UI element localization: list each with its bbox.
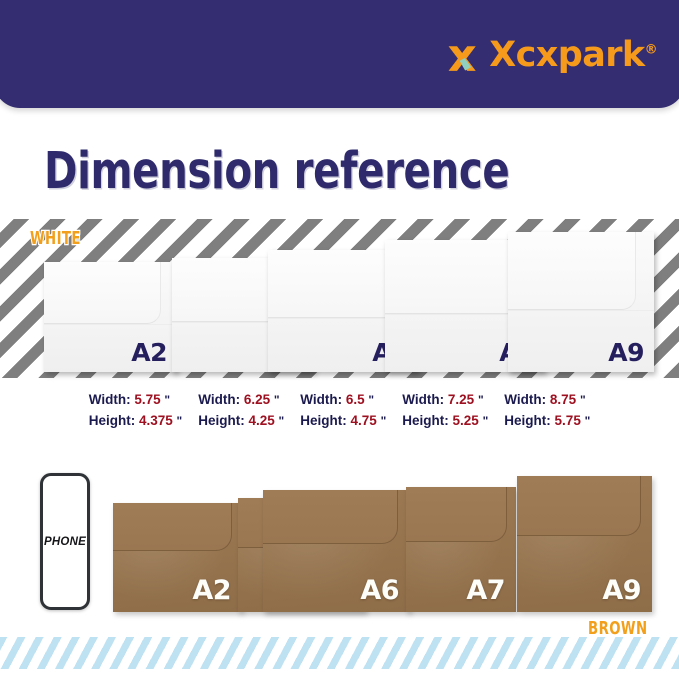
envelope-flap (385, 240, 526, 314)
envelope-size-label: A2 (192, 575, 231, 606)
envelope-size-label: A9 (608, 338, 644, 367)
envelope-brown-a6: A6 (263, 490, 410, 612)
dimension-width: Width: 8.75 " (504, 390, 590, 411)
phone-label: PHONE (44, 536, 86, 548)
envelope-seam (44, 324, 177, 325)
width-unit: " (580, 393, 586, 407)
page-title: Dimension reference (44, 142, 509, 201)
envelope-seam (508, 310, 654, 311)
width-value: 6.25 (244, 392, 270, 407)
envelope-size-label: A2 (131, 338, 167, 367)
width-value: 6.5 (346, 392, 365, 407)
dimension-width: Width: 6.25 " (198, 390, 284, 411)
dimension-height: Height: 5.25 " (402, 411, 488, 432)
dimension-width: Width: 7.25 " (402, 390, 488, 411)
envelope-white-a9: A9 (508, 232, 654, 372)
envelope-flap (113, 503, 232, 551)
width-value: 5.75 (134, 392, 160, 407)
height-label: Height: (504, 413, 551, 428)
width-label: Width: (300, 392, 342, 407)
registered-trademark-icon: ® (645, 42, 657, 57)
phone-reference: PHONE (40, 473, 90, 610)
envelope-size-label: A7 (466, 575, 505, 606)
dimension-column-a6: Width: 6.5 " Height: 4.75 " (300, 390, 386, 432)
brand-name: Xcxpark® (489, 38, 657, 73)
height-unit: " (483, 414, 489, 428)
dimension-height: Height: 4.25 " (198, 411, 284, 432)
height-label: Height: (198, 413, 245, 428)
height-value: 4.375 (139, 413, 173, 428)
width-value: 8.75 (550, 392, 576, 407)
dimension-height: Height: 4.75 " (300, 411, 386, 432)
envelope-flap (263, 490, 398, 544)
width-unit: " (164, 393, 170, 407)
height-unit: " (177, 414, 183, 428)
envelope-brown-a9: A9 (517, 476, 652, 612)
envelope-flap (44, 262, 161, 324)
envelope-flap (268, 250, 400, 318)
height-unit: " (585, 414, 591, 428)
envelope-white-a2: A2 (44, 262, 177, 372)
dimensions-row: Width: 5.75 " Height: 4.375 " Width: 6.2… (0, 390, 679, 432)
dimension-width: Width: 6.5 " (300, 390, 386, 411)
envelope-brown-a2: A2 (113, 503, 242, 612)
header-banner: Xcxpark® (0, 0, 679, 108)
height-unit: " (279, 414, 285, 428)
width-label: Width: (198, 392, 240, 407)
envelope-flap (406, 487, 507, 542)
brand-name-text: Xcxpark (489, 35, 644, 75)
footer-stripe-decoration (0, 637, 679, 669)
width-unit: " (368, 393, 374, 407)
envelope-flap (508, 232, 636, 310)
width-label: Width: (402, 392, 444, 407)
height-value: 5.25 (453, 413, 479, 428)
dimension-width: Width: 5.75 " (89, 390, 183, 411)
dimension-column-a7: Width: 7.25 " Height: 5.25 " (402, 390, 488, 432)
height-value: 4.75 (351, 413, 377, 428)
dimension-column-a4: Width: 6.25 " Height: 4.25 " (198, 390, 284, 432)
x-mark-icon (446, 42, 480, 76)
width-value: 7.25 (448, 392, 474, 407)
width-unit: " (274, 393, 280, 407)
dimension-column-a2: Width: 5.75 " Height: 4.375 " (89, 390, 183, 432)
envelope-brown-a7: A7 (406, 487, 516, 612)
brown-section-label: BROWN (588, 618, 647, 639)
width-label: Width: (504, 392, 546, 407)
dimension-height: Height: 4.375 " (89, 411, 183, 432)
height-label: Height: (89, 413, 136, 428)
height-unit: " (381, 414, 387, 428)
width-unit: " (478, 393, 484, 407)
dimension-column-a9: Width: 8.75 " Height: 5.75 " (504, 390, 590, 432)
white-section-label: WHITE (30, 228, 81, 249)
envelope-flap (517, 476, 641, 536)
envelope-size-label: A9 (602, 575, 641, 606)
dimension-height: Height: 5.75 " (504, 411, 590, 432)
height-value: 4.25 (249, 413, 275, 428)
height-label: Height: (402, 413, 449, 428)
envelope-size-label: A6 (360, 575, 399, 606)
height-value: 5.75 (555, 413, 581, 428)
brand-logo: Xcxpark® (446, 38, 657, 76)
width-label: Width: (89, 392, 131, 407)
height-label: Height: (300, 413, 347, 428)
